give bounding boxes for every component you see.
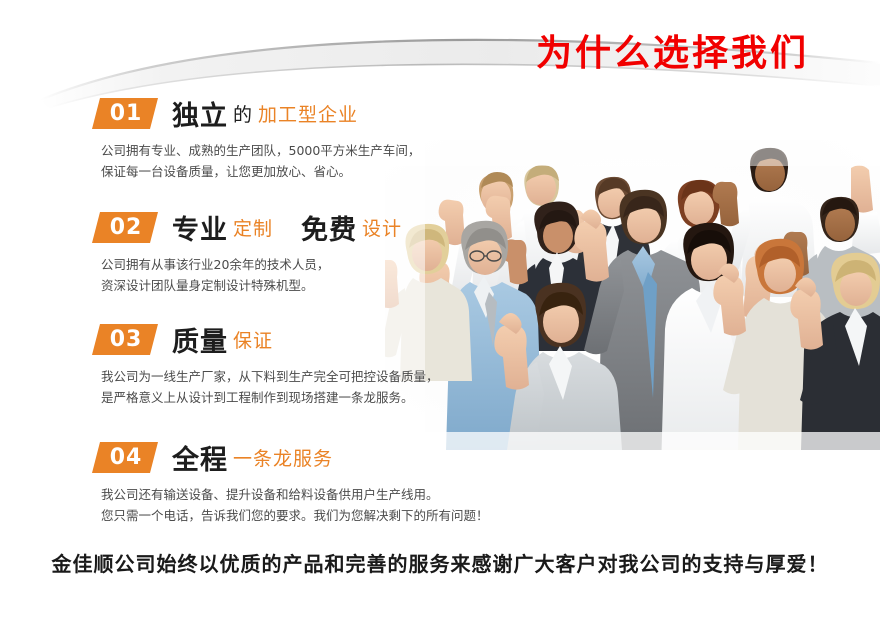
feature-body: 公司拥有从事该行业20余年的技术人员， 资深设计团队量身定制设计特殊机型。 bbox=[101, 254, 402, 296]
feature-item-01: 01 独立 的 加工型企业 公司拥有专业、成熟的生产团队，5000平方米生产车间… bbox=[92, 96, 420, 182]
badge-number: 01 bbox=[92, 98, 158, 129]
number-badge-03: 03 bbox=[92, 324, 158, 355]
feature-body: 我公司为一线生产厂家，从下料到生产完全可把控设备质量， 是严格意义上从设计到工程… bbox=[101, 366, 439, 408]
feature-title-main: 独立 bbox=[172, 94, 228, 133]
footer-slogan: 金佳顺公司始终以优质的产品和完善的服务来感谢广大客户对我公司的支持与厚爱！ bbox=[0, 548, 880, 577]
badge-number: 02 bbox=[92, 212, 158, 243]
feature-title-sub-2: 设计 bbox=[362, 214, 402, 241]
feature-heading: 01 独立 的 加工型企业 bbox=[92, 96, 420, 130]
feature-heading: 02 专业 定制 免费 设计 bbox=[92, 210, 402, 244]
feature-body-line: 公司拥有从事该行业20余年的技术人员， bbox=[101, 254, 402, 275]
feature-heading: 03 质量 保证 bbox=[92, 322, 439, 356]
feature-title-main: 全程 bbox=[172, 438, 228, 477]
feature-item-02: 02 专业 定制 免费 设计 公司拥有从事该行业20余年的技术人员， 资深设计团… bbox=[92, 210, 402, 296]
feature-body-line: 您只需一个电话，告诉我们您的要求。我们为您解决剩下的所有问题！ bbox=[101, 505, 489, 526]
number-badge-01: 01 bbox=[92, 98, 158, 129]
number-badge-02: 02 bbox=[92, 212, 158, 243]
feature-title-sub: 加工型企业 bbox=[258, 100, 358, 127]
feature-body-line: 是严格意义上从设计到工程制作到现场搭建一条龙服务。 bbox=[101, 387, 439, 408]
feature-title-main: 质量 bbox=[172, 320, 228, 359]
feature-body-line: 资深设计团队量身定制设计特殊机型。 bbox=[101, 275, 402, 296]
badge-number: 03 bbox=[92, 324, 158, 355]
feature-title-sub: 一条龙服务 bbox=[233, 444, 333, 471]
page-title: 为什么选择我们 bbox=[536, 24, 809, 76]
feature-title-sub: 定制 bbox=[233, 214, 273, 241]
feature-title-plain: 的 bbox=[233, 100, 253, 127]
team-thumbs-up-photo bbox=[385, 140, 880, 450]
feature-heading: 04 全程 一条龙服务 bbox=[92, 440, 489, 474]
feature-item-03: 03 质量 保证 我公司为一线生产厂家，从下料到生产完全可把控设备质量， 是严格… bbox=[92, 322, 439, 408]
badge-number: 04 bbox=[92, 442, 158, 473]
feature-body-line: 我公司为一线生产厂家，从下料到生产完全可把控设备质量， bbox=[101, 366, 439, 387]
number-badge-04: 04 bbox=[92, 442, 158, 473]
feature-body-line: 公司拥有专业、成熟的生产团队，5000平方米生产车间， bbox=[101, 140, 420, 161]
feature-body: 我公司还有输送设备、提升设备和给料设备供用户生产线用。 您只需一个电话，告诉我们… bbox=[101, 484, 489, 526]
feature-body-line: 我公司还有输送设备、提升设备和给料设备供用户生产线用。 bbox=[101, 484, 489, 505]
feature-body-line: 保证每一台设备质量，让您更加放心、省心。 bbox=[101, 161, 420, 182]
feature-title-main-2: 免费 bbox=[301, 208, 357, 247]
feature-title-sub: 保证 bbox=[233, 326, 273, 353]
promo-banner: 为什么选择我们 bbox=[0, 0, 880, 626]
feature-item-04: 04 全程 一条龙服务 我公司还有输送设备、提升设备和给料设备供用户生产线用。 … bbox=[92, 440, 489, 526]
feature-title-main: 专业 bbox=[172, 208, 228, 247]
feature-body: 公司拥有专业、成熟的生产团队，5000平方米生产车间， 保证每一台设备质量，让您… bbox=[101, 140, 420, 182]
